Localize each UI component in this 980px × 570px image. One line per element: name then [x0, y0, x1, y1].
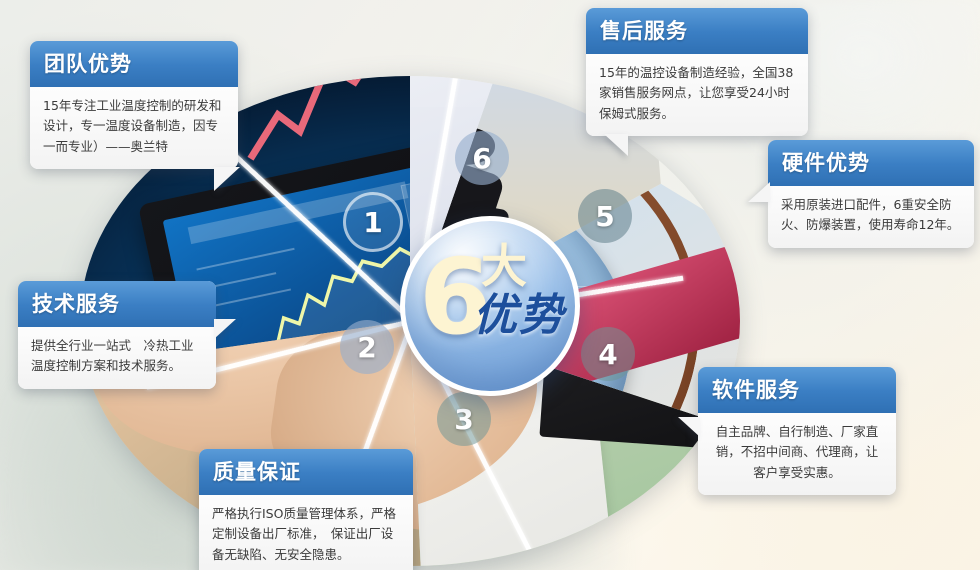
- callout-hardware-body: 采用原装进口配件，6重安全防火、防爆装置，使用寿命12年。: [768, 186, 974, 248]
- callout-hardware-advantage[interactable]: 硬件优势 采用原装进口配件，6重安全防火、防爆装置，使用寿命12年。: [768, 140, 974, 248]
- callout-tail: [214, 319, 236, 339]
- callout-after-sales[interactable]: 售后服务 15年的温控设备制造经验，全国38家销售服务网点，让您享受24小时保姆…: [586, 8, 808, 136]
- callout-tail: [678, 417, 700, 437]
- callout-team-title: 团队优势: [30, 41, 238, 87]
- callout-software-body: 自主品牌、自行制造、厂家直销，不招中间商、代理商，让客户享受实惠。: [698, 413, 896, 495]
- center-script-text: 优势: [473, 293, 565, 339]
- callout-tail: [214, 167, 240, 191]
- badge-4[interactable]: 4: [581, 327, 635, 381]
- callout-software-service[interactable]: 软件服务 自主品牌、自行制造、厂家直销，不招中间商、代理商，让客户享受实惠。: [698, 367, 896, 495]
- callout-team-advantage[interactable]: 团队优势 15年专注工业温度控制的研发和设计，专一温度设备制造，因专一而专业）—…: [30, 41, 238, 169]
- callout-technical-title: 技术服务: [18, 281, 216, 327]
- center-big-char: 大: [481, 243, 527, 289]
- badge-3[interactable]: 3: [437, 392, 491, 446]
- callout-tail: [604, 134, 628, 156]
- callout-after-sales-title: 售后服务: [586, 8, 808, 54]
- callout-software-title: 软件服务: [698, 367, 896, 413]
- callout-team-body: 15年专注工业温度控制的研发和设计，专一温度设备制造，因专一而专业）——奥兰特: [30, 87, 238, 169]
- center-badge: 6 大 优势: [400, 216, 580, 396]
- callout-quality-assurance[interactable]: 质量保证 严格执行ISO质量管理体系，严格定制设备出厂标准， 保证出厂设备无缺陷…: [199, 449, 413, 570]
- badge-5[interactable]: 5: [578, 189, 632, 243]
- callout-hardware-title: 硬件优势: [768, 140, 974, 186]
- advantages-infographic: 6 大 优势 1 2 3 4 5 6 团队优势 15年专注工业温度控制的研发和设…: [0, 0, 980, 570]
- callout-tail: [748, 182, 770, 202]
- callout-technical-service[interactable]: 技术服务 提供全行业一站式 冷热工业温度控制方案和技术服务。: [18, 281, 216, 389]
- callout-quality-title: 质量保证: [199, 449, 413, 495]
- callout-after-sales-body: 15年的温控设备制造经验，全国38家销售服务网点，让您享受24小时保姆式服务。: [586, 54, 808, 136]
- badge-6[interactable]: 6: [455, 131, 509, 185]
- callout-technical-body: 提供全行业一站式 冷热工业温度控制方案和技术服务。: [18, 327, 216, 389]
- callout-quality-body: 严格执行ISO质量管理体系，严格定制设备出厂标准， 保证出厂设备无缺陷、无安全隐…: [199, 495, 413, 570]
- badge-2[interactable]: 2: [340, 320, 394, 374]
- badge-1[interactable]: 1: [343, 192, 403, 252]
